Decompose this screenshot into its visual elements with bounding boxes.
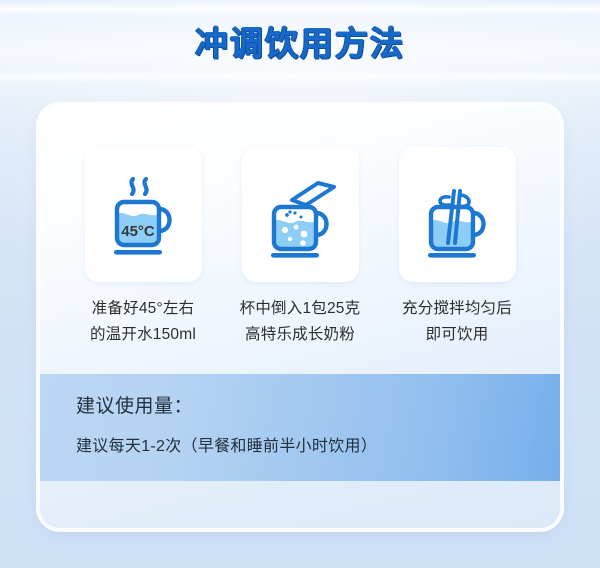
step-caption-2-line2: 高特乐成长奶粉	[233, 322, 368, 348]
stir-cup-icon	[411, 169, 503, 261]
hot-cup-temperature-label: 45°C	[121, 223, 155, 240]
step-caption-1-line1: 准备好45°左右	[76, 296, 211, 322]
usage-detail: 建议每天1-2次（早餐和睡前半小时饮用）	[76, 435, 377, 459]
step-caption-2: 杯中倒入1包25克 高特乐成长奶粉	[233, 296, 368, 348]
promo-page: 冲调饮用方法 45°C	[0, 0, 600, 568]
step-caption-2-line1: 杯中倒入1包25克	[233, 296, 368, 322]
step-icon-card-2	[242, 147, 359, 282]
step-icon-card-3	[399, 147, 516, 282]
step-icon-row: 45°C	[40, 147, 560, 282]
usage-heading: 建议使用量：	[76, 394, 193, 420]
hot-cup-45c-icon: 45°C	[97, 169, 189, 261]
step-caption-row: 准备好45°左右 的温开水150ml 杯中倒入1包25克 高特乐成长奶粉 充分搅…	[40, 296, 560, 348]
page-title: 冲调饮用方法	[0, 22, 600, 66]
instructions-card: 45°C	[40, 106, 560, 528]
background-light-band-second	[0, 70, 600, 84]
background-light-band-top	[0, 2, 600, 16]
step-caption-1-line2: 的温开水150ml	[76, 322, 211, 348]
step-caption-3-line2: 即可饮用	[390, 322, 525, 348]
step-caption-3-line1: 充分搅拌均匀后	[390, 296, 525, 322]
sachet-pour-cup-icon	[254, 169, 346, 261]
step-icon-card-1: 45°C	[85, 147, 202, 282]
usage-panel: 建议使用量： 建议每天1-2次（早餐和睡前半小时饮用）	[40, 374, 560, 481]
step-caption-3: 充分搅拌均匀后 即可饮用	[390, 296, 525, 348]
step-caption-1: 准备好45°左右 的温开水150ml	[76, 296, 211, 348]
